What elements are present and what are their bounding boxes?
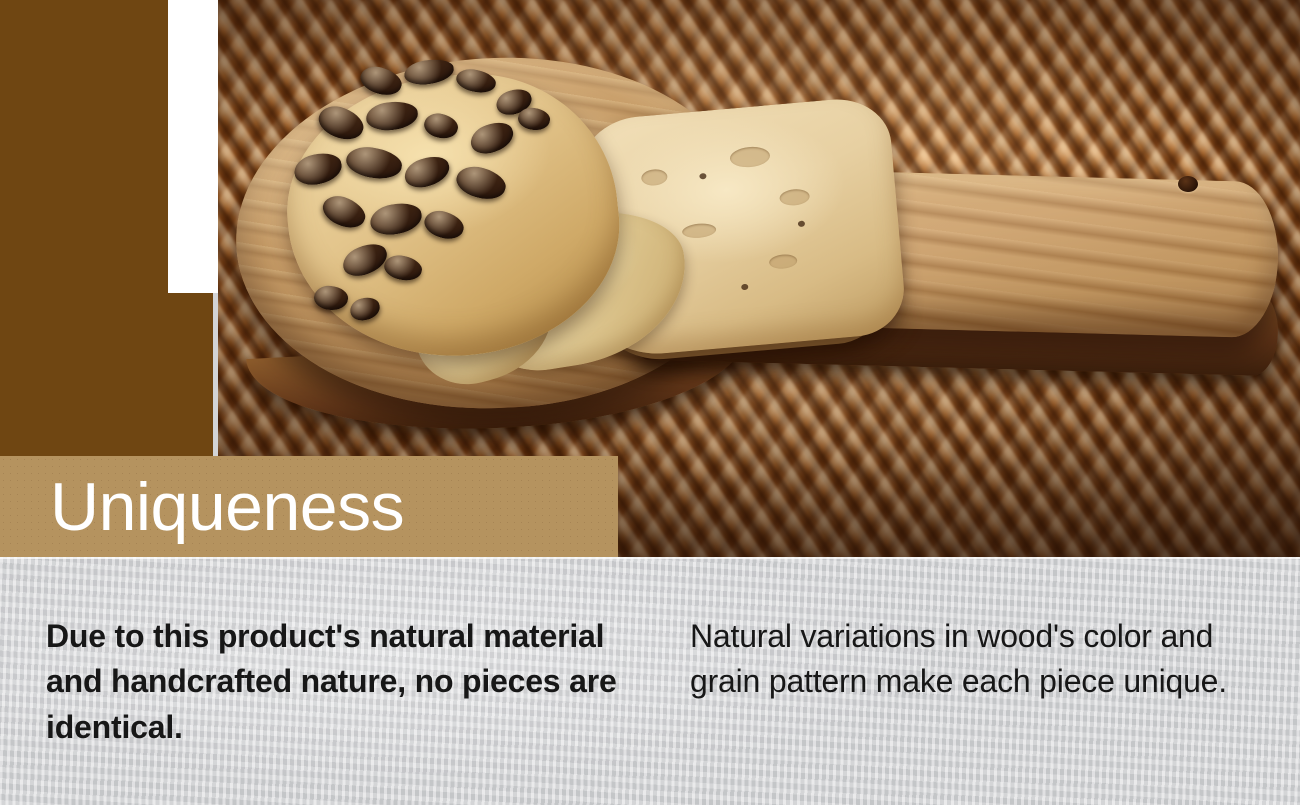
description-section: Due to this product's natural material a… xyxy=(0,557,1300,805)
decor-brown-block xyxy=(0,0,168,456)
bread-crumb xyxy=(798,221,805,228)
page-title: Uniqueness xyxy=(50,473,404,541)
bread-pore xyxy=(729,145,771,168)
decor-white-accent-bar xyxy=(168,0,218,293)
uniqueness-slide: Uniqueness Due to this product's natural… xyxy=(0,0,1300,805)
description-text-left: Due to this product's natural material a… xyxy=(46,614,630,750)
bread-pore xyxy=(641,168,668,186)
bread-pore xyxy=(779,188,810,207)
description-text-right: Natural variations in wood's color and g… xyxy=(690,614,1228,705)
description-column-left: Due to this product's natural material a… xyxy=(0,614,648,750)
decor-brown-block-lower xyxy=(168,293,213,456)
title-banner: Uniqueness xyxy=(0,456,618,557)
bread-pore xyxy=(769,253,798,269)
description-column-right: Natural variations in wood's color and g… xyxy=(648,614,1248,750)
description-columns: Due to this product's natural material a… xyxy=(0,557,1300,750)
bread-crumb xyxy=(741,284,748,291)
bread-crumb xyxy=(699,173,706,180)
olive-wood-board xyxy=(218,46,1300,436)
bread-pore xyxy=(682,222,717,239)
